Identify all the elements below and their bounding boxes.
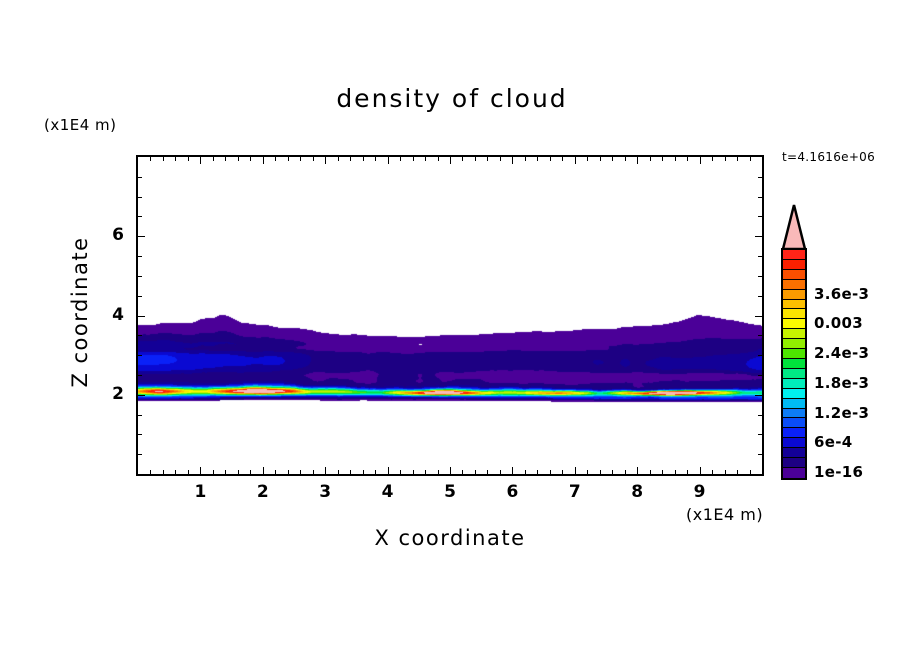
x-minor-tick-top	[737, 157, 738, 161]
x-major-tick	[637, 467, 638, 474]
y-minor-tick	[138, 256, 142, 257]
x-major-tick-top	[700, 157, 701, 164]
y-minor-tick	[138, 415, 142, 416]
x-minor-tick	[712, 470, 713, 474]
x-minor-tick	[438, 470, 439, 474]
x-minor-tick	[462, 470, 463, 474]
y-minor-tick-right	[758, 256, 762, 257]
x-minor-tick	[600, 470, 601, 474]
x-minor-tick-top	[475, 157, 476, 161]
y-tick-label: 2	[96, 384, 124, 404]
x-minor-tick-top	[462, 157, 463, 161]
colorbar[interactable]: 3.6e-30.0032.4e-31.8e-31.2e-36e-41e-16	[781, 203, 901, 483]
x-minor-tick	[300, 470, 301, 474]
colorbar-tick-label: 3.6e-3	[814, 285, 869, 303]
x-major-tick	[700, 467, 701, 474]
x-minor-tick	[662, 470, 663, 474]
x-minor-tick-top	[650, 157, 651, 161]
x-tick-label: 2	[248, 482, 278, 502]
colorbar-band	[783, 438, 805, 448]
y-minor-tick	[138, 296, 142, 297]
y-minor-tick	[138, 216, 142, 217]
colorbar-band	[783, 418, 805, 428]
x-minor-tick-top	[338, 157, 339, 161]
colorbar-band	[783, 409, 805, 419]
x-minor-tick	[238, 470, 239, 474]
x-minor-tick-top	[300, 157, 301, 161]
x-minor-tick	[650, 470, 651, 474]
y-axis-unit-label: (x1E4 m)	[44, 116, 117, 134]
x-minor-tick-top	[612, 157, 613, 161]
x-major-tick-top	[762, 157, 763, 164]
x-major-tick-top	[450, 157, 451, 164]
x-minor-tick	[313, 470, 314, 474]
x-tick-label: 3	[310, 482, 340, 502]
colorbar-band	[783, 389, 805, 399]
x-minor-tick	[250, 470, 251, 474]
x-minor-tick-top	[662, 157, 663, 161]
colorbar-tick-label: 2.4e-3	[814, 344, 869, 362]
x-minor-tick	[175, 470, 176, 474]
colorbar-band	[783, 250, 805, 260]
x-minor-tick-top	[500, 157, 501, 161]
x-minor-tick-top	[250, 157, 251, 161]
x-axis-unit-label: (x1E4 m)	[686, 505, 763, 524]
y-minor-tick	[138, 177, 142, 178]
contour-field	[138, 157, 762, 474]
x-minor-tick-top	[375, 157, 376, 161]
x-minor-tick-top	[413, 157, 414, 161]
colorbar-band	[783, 319, 805, 329]
y-minor-tick-right	[758, 177, 762, 178]
x-minor-tick-top	[562, 157, 563, 161]
x-minor-tick	[537, 470, 538, 474]
x-tick-label: 5	[435, 482, 465, 502]
y-tick-label: 4	[96, 305, 124, 325]
x-major-tick	[200, 467, 201, 474]
x-major-tick-top	[388, 157, 389, 164]
colorbar-band	[783, 369, 805, 379]
x-major-tick	[762, 467, 763, 474]
y-major-tick-right	[755, 316, 762, 317]
x-minor-tick-top	[425, 157, 426, 161]
time-stamp-annotation: t=4.1616e+06	[782, 150, 875, 164]
x-major-tick-top	[637, 157, 638, 164]
x-minor-tick-top	[213, 157, 214, 161]
x-major-tick-top	[325, 157, 326, 164]
x-minor-tick	[425, 470, 426, 474]
x-minor-tick-top	[550, 157, 551, 161]
x-minor-tick-top	[712, 157, 713, 161]
colorbar-band	[783, 448, 805, 458]
y-minor-tick	[138, 355, 142, 356]
y-major-tick	[138, 316, 145, 317]
colorbar-tick-label: 0.003	[814, 314, 863, 332]
y-major-tick	[138, 395, 145, 396]
x-minor-tick-top	[725, 157, 726, 161]
colorbar-band	[783, 349, 805, 359]
x-major-tick-top	[512, 157, 513, 164]
x-major-tick	[512, 467, 513, 474]
colorbar-tick-label: 1.8e-3	[814, 374, 869, 392]
x-minor-tick-top	[400, 157, 401, 161]
colorbar-band	[783, 260, 805, 270]
page-title: density of cloud	[0, 84, 904, 113]
x-minor-tick-top	[587, 157, 588, 161]
x-minor-tick-top	[625, 157, 626, 161]
colorbar-band	[783, 270, 805, 280]
x-tick-label: 8	[622, 482, 652, 502]
x-minor-tick	[750, 470, 751, 474]
y-minor-tick-right	[758, 296, 762, 297]
x-tick-label: 1	[185, 482, 215, 502]
x-minor-tick-top	[687, 157, 688, 161]
x-minor-tick	[500, 470, 501, 474]
x-tick-label: 7	[560, 482, 590, 502]
colorbar-bands	[781, 248, 807, 480]
y-major-tick-right	[755, 236, 762, 237]
x-minor-tick	[213, 470, 214, 474]
y-minor-tick-right	[758, 434, 762, 435]
x-minor-tick-top	[363, 157, 364, 161]
x-minor-tick-top	[225, 157, 226, 161]
x-minor-tick	[687, 470, 688, 474]
x-minor-tick-top	[487, 157, 488, 161]
x-minor-tick	[288, 470, 289, 474]
x-minor-tick-top	[288, 157, 289, 161]
x-minor-tick	[725, 470, 726, 474]
x-major-tick	[325, 467, 326, 474]
x-major-tick-top	[200, 157, 201, 164]
x-minor-tick-top	[188, 157, 189, 161]
y-minor-tick	[138, 375, 142, 376]
x-axis-title: X coordinate	[136, 526, 764, 550]
y-axis-title: Z coordinate	[68, 212, 92, 412]
colorbar-tick-label: 6e-4	[814, 433, 852, 451]
x-minor-tick	[550, 470, 551, 474]
colorbar-band	[783, 379, 805, 389]
x-minor-tick-top	[150, 157, 151, 161]
x-minor-tick-top	[438, 157, 439, 161]
colorbar-band	[783, 300, 805, 310]
x-major-tick-top	[263, 157, 264, 164]
figure-canvas: density of cloud (x1E4 m) t=4.1616e+06 1…	[0, 0, 904, 654]
x-minor-tick-top	[537, 157, 538, 161]
x-minor-tick	[338, 470, 339, 474]
x-minor-tick	[487, 470, 488, 474]
x-minor-tick-top	[600, 157, 601, 161]
x-major-tick	[575, 467, 576, 474]
x-minor-tick	[163, 470, 164, 474]
x-minor-tick-top	[313, 157, 314, 161]
x-major-tick-top	[575, 157, 576, 164]
x-minor-tick	[475, 470, 476, 474]
x-minor-tick	[737, 470, 738, 474]
y-minor-tick-right	[758, 355, 762, 356]
x-minor-tick-top	[350, 157, 351, 161]
y-minor-tick	[138, 434, 142, 435]
y-minor-tick-right	[758, 276, 762, 277]
x-minor-tick-top	[675, 157, 676, 161]
x-minor-tick-top	[175, 157, 176, 161]
x-minor-tick	[350, 470, 351, 474]
colorbar-band	[783, 290, 805, 300]
y-minor-tick	[138, 454, 142, 455]
colorbar-band	[783, 329, 805, 339]
colorbar-band	[783, 399, 805, 409]
y-minor-tick-right	[758, 216, 762, 217]
x-minor-tick	[225, 470, 226, 474]
plot-area[interactable]	[136, 155, 764, 476]
x-minor-tick	[587, 470, 588, 474]
y-minor-tick	[138, 276, 142, 277]
x-minor-tick	[562, 470, 563, 474]
x-minor-tick	[625, 470, 626, 474]
x-minor-tick	[188, 470, 189, 474]
y-minor-tick-right	[758, 335, 762, 336]
colorbar-tick-label: 1.2e-3	[814, 404, 869, 422]
x-minor-tick	[363, 470, 364, 474]
y-minor-tick	[138, 197, 142, 198]
colorbar-band	[783, 280, 805, 290]
x-major-tick	[450, 467, 451, 474]
colorbar-tick-label: 1e-16	[814, 463, 863, 481]
y-minor-tick-right	[758, 197, 762, 198]
x-minor-tick	[525, 470, 526, 474]
colorbar-band	[783, 428, 805, 438]
x-minor-tick	[612, 470, 613, 474]
y-tick-label: 6	[96, 225, 124, 245]
x-major-tick	[388, 467, 389, 474]
x-minor-tick-top	[163, 157, 164, 161]
y-minor-tick	[138, 335, 142, 336]
colorbar-band	[783, 458, 805, 468]
x-minor-tick	[375, 470, 376, 474]
x-minor-tick	[275, 470, 276, 474]
colorbar-band	[783, 309, 805, 319]
x-tick-label: 4	[373, 482, 403, 502]
x-major-tick	[263, 467, 264, 474]
y-minor-tick-right	[758, 415, 762, 416]
x-minor-tick	[400, 470, 401, 474]
colorbar-band	[783, 339, 805, 349]
y-minor-tick-right	[758, 375, 762, 376]
x-minor-tick-top	[750, 157, 751, 161]
x-minor-tick	[675, 470, 676, 474]
colorbar-over-arrow-icon	[781, 203, 807, 250]
colorbar-band	[783, 468, 805, 478]
colorbar-band	[783, 359, 805, 369]
y-minor-tick-right	[758, 454, 762, 455]
y-major-tick-right	[755, 395, 762, 396]
x-minor-tick-top	[238, 157, 239, 161]
y-major-tick	[138, 236, 145, 237]
x-minor-tick-top	[275, 157, 276, 161]
x-minor-tick-top	[525, 157, 526, 161]
x-minor-tick	[150, 470, 151, 474]
x-tick-label: 6	[497, 482, 527, 502]
x-minor-tick	[413, 470, 414, 474]
x-tick-label: 9	[685, 482, 715, 502]
